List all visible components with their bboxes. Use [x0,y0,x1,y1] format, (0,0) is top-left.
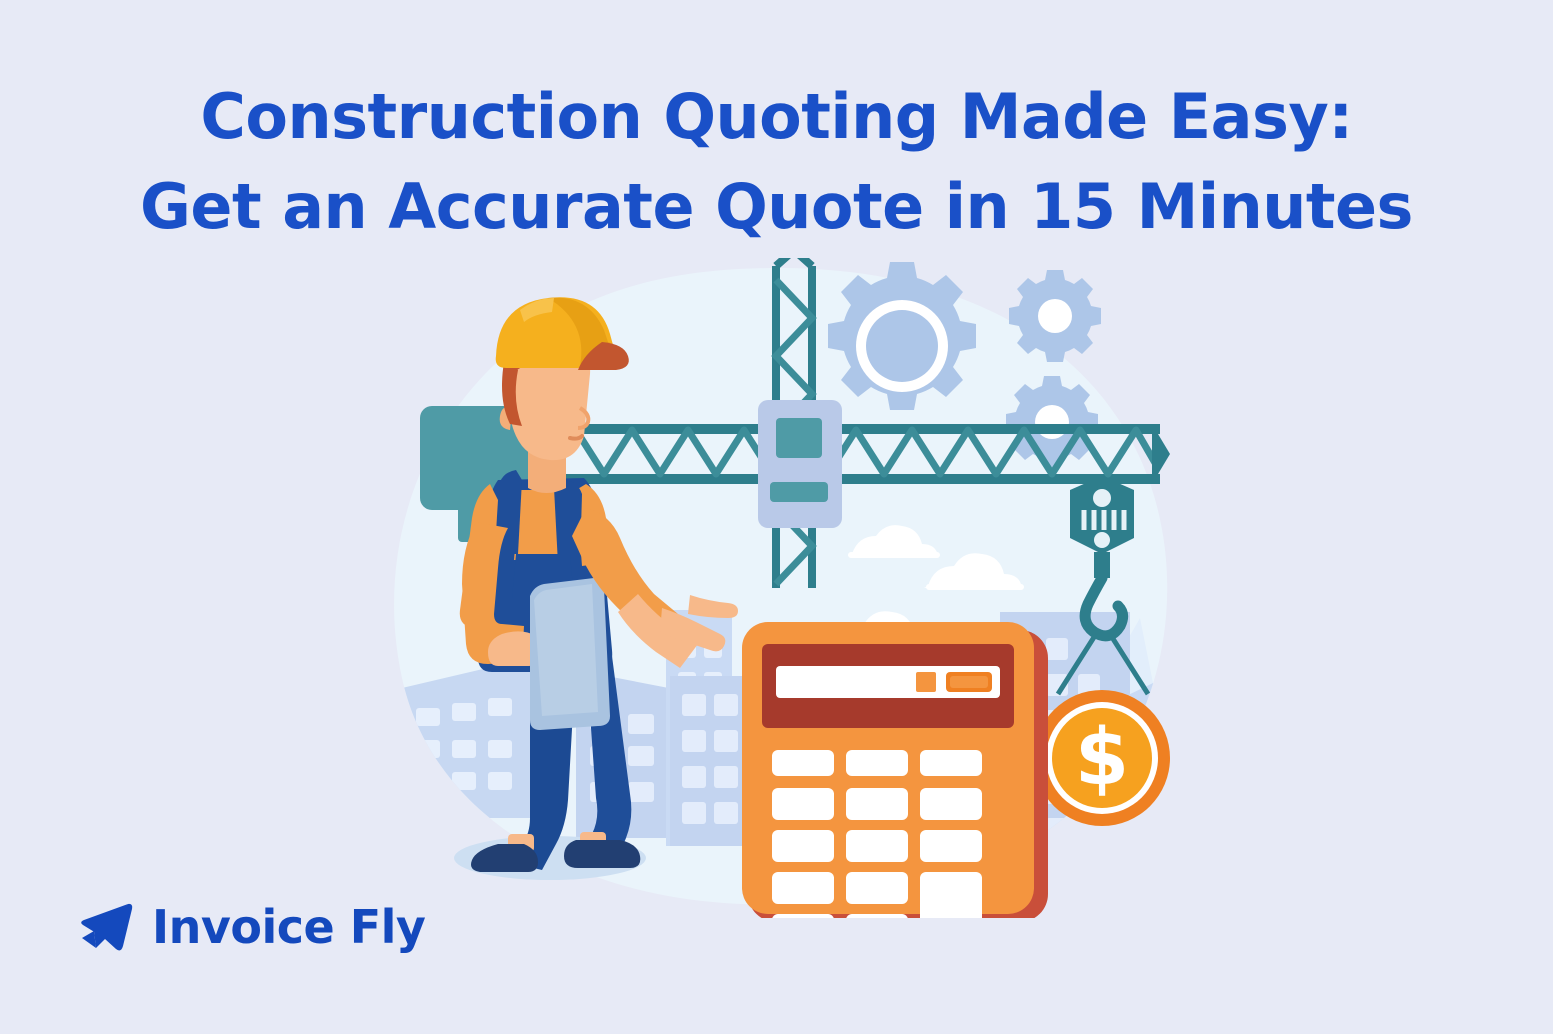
gear-small-bottom-icon [1006,376,1098,468]
calculator-screen [762,644,1014,728]
calculator-button [772,914,834,918]
brand-name: Invoice Fly [152,904,425,950]
calculator-button [920,788,982,820]
coin-symbol: $ [1075,713,1129,803]
calculator-button [772,830,834,862]
calculator-button [772,788,834,820]
dollar-coin: $ [1034,690,1170,826]
hero-illustration: $ [380,258,1180,918]
paper-plane-icon [78,898,136,956]
calculator-button [920,750,982,776]
calculator-button [920,830,982,862]
calculator [742,622,1048,918]
calculator-button [846,872,908,904]
crane-mast-top [776,258,812,266]
calculator-keypad [772,750,982,918]
gear-large-icon [828,262,976,410]
shoe-right [564,840,640,868]
calculator-button [772,872,834,904]
crane-cabin [758,400,842,528]
calculator-button-equals [920,872,982,918]
brand-logo[interactable]: Invoice Fly [78,898,425,956]
calculator-button [846,750,908,776]
calculator-button [846,914,908,918]
page-title: Construction Quoting Made Easy: Get an A… [0,72,1553,252]
calculator-button [846,830,908,862]
calculator-button [846,788,908,820]
page-title-line-2: Get an Accurate Quote in 15 Minutes [0,162,1553,252]
clipboard [530,578,610,730]
calculator-button [772,750,834,776]
poster-canvas: Construction Quoting Made Easy: Get an A… [0,0,1553,1034]
gear-small-top-icon [1009,270,1101,362]
page-title-line-1: Construction Quoting Made Easy: [0,72,1553,162]
overall-strap-right [554,480,582,564]
